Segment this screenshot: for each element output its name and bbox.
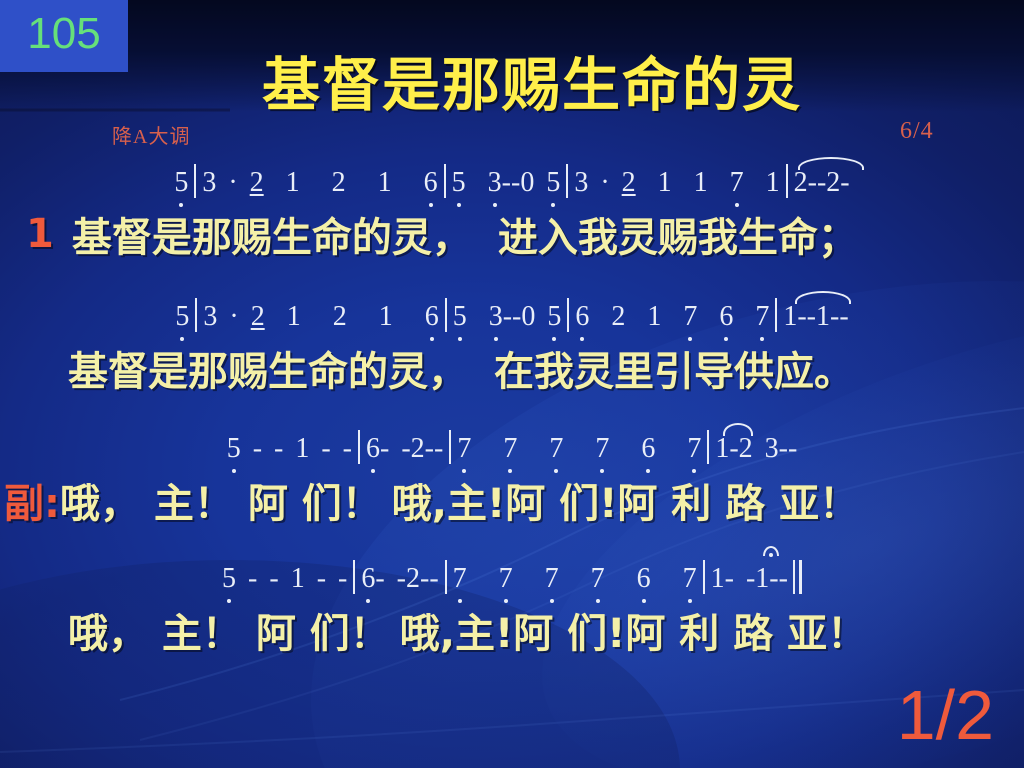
lyric-row-verse1-a: 1 基督是那赐生命的灵， 进入我灵赐我生命； — [0, 206, 1024, 262]
notation-line-1: 53·2121653--053·211712--2- — [0, 158, 1024, 204]
lyric-text-a: 基督是那赐生命的灵， — [72, 205, 472, 263]
chorus-marker: 副: — [4, 471, 60, 529]
key-signature: 降A大调 — [112, 120, 190, 149]
notation-line-3: 5--1--6--2--7777671-23-- — [0, 424, 1024, 470]
lyric-text-b: 哦,主!阿 们!阿 利 路 亚！ — [392, 471, 859, 529]
lyric-row-chorus-b: 哦， 主！ 阿 们！ 哦,主!阿 们!阿 利 路 亚！ — [0, 602, 1024, 658]
slide-canvas: 105 基督是那赐生命的灵 降A大调 6/4 53·2121653--053·2… — [0, 0, 1024, 768]
page-title: 基督是那赐生命的灵 — [0, 38, 1024, 122]
lyric-text-a: 基督是那赐生命的灵， — [68, 339, 468, 397]
notation-line-2: 53·2121653--056217671--1-- — [0, 292, 1024, 338]
lyric-text-b: 在我灵里引导供应。 — [494, 339, 854, 397]
verse-number: 1 — [26, 211, 54, 257]
lyric-text-a: 哦， 主！ 阿 们！ — [60, 471, 382, 529]
lyric-row-chorus-a: 副: 哦， 主！ 阿 们！ 哦,主!阿 们!阿 利 路 亚！ — [0, 472, 1024, 528]
lyric-text-b: 进入我灵赐我生命； — [498, 205, 858, 263]
time-signature: 6/4 — [900, 118, 934, 145]
lyric-text-b: 哦,主!阿 们!阿 利 路 亚！ — [400, 601, 867, 659]
lyric-text-a: 哦， 主！ 阿 们！ — [68, 601, 390, 659]
lyric-row-verse1-b: 基督是那赐生命的灵， 在我灵里引导供应。 — [0, 340, 1024, 396]
page-indicator: 1/2 — [897, 680, 994, 750]
notation-line-4: 5--1--6--2--7777671--1-- — [0, 554, 1024, 600]
